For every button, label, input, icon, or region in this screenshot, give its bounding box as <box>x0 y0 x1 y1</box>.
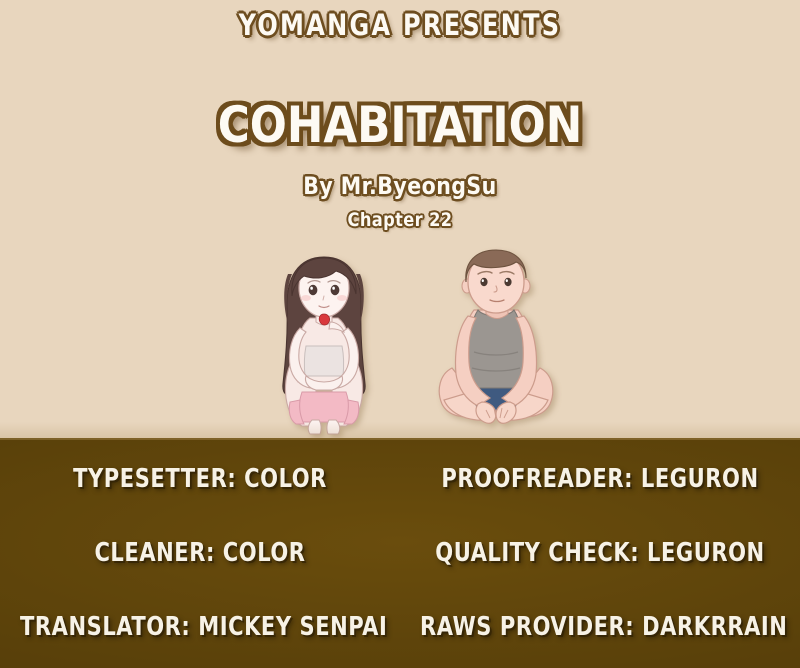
left-eye-glint <box>310 287 313 290</box>
male-character-svg <box>434 248 558 438</box>
credit-cleaner: CLEANER: COLOR <box>20 534 380 568</box>
tank-top <box>304 346 343 376</box>
left-eye-glint <box>482 279 484 282</box>
right-eye-glint <box>332 287 335 290</box>
right-eye-glint <box>506 279 508 282</box>
held-snack <box>319 314 329 325</box>
left-blush <box>301 295 311 301</box>
shorts <box>299 392 349 422</box>
left-foot <box>308 420 321 434</box>
page-title: COHABITATION <box>12 96 788 154</box>
title-panel: YOMANGA PRESENTS COHABITATION By Mr.Byeo… <box>0 0 800 438</box>
female-character-illustration <box>266 252 382 438</box>
right-eye <box>504 278 511 286</box>
manga-credits-page: YOMANGA PRESENTS COHABITATION By Mr.Byeo… <box>0 0 800 668</box>
left-eye <box>309 285 318 295</box>
publisher-presents-text: YOMANGA PRESENTS <box>32 8 768 42</box>
credits-panel: TYPESETTER: COLOR PROOFREADER: LEGURON C… <box>0 438 800 668</box>
chapter-label: Chapter 22 <box>20 209 780 231</box>
right-eye <box>331 285 340 295</box>
credit-raws-provider: RAWS PROVIDER: DARKRRAIN <box>420 610 780 642</box>
author-byline: By Mr.ByeongSu <box>20 172 780 200</box>
credit-quality-check: QUALITY CHECK: LEGURON <box>420 534 780 568</box>
credit-proofreader: PROOFREADER: LEGURON <box>420 458 780 494</box>
male-character-illustration <box>434 248 558 438</box>
left-eye <box>480 278 487 286</box>
credit-typesetter: TYPESETTER: COLOR <box>20 458 380 494</box>
right-blush <box>337 295 347 301</box>
right-foot <box>327 420 340 434</box>
credits-grid: TYPESETTER: COLOR PROOFREADER: LEGURON C… <box>0 438 800 668</box>
tank-top <box>468 310 524 388</box>
credit-translator: TRANSLATOR: MICKEY SENPAI <box>20 610 380 642</box>
female-character-svg <box>266 252 382 438</box>
